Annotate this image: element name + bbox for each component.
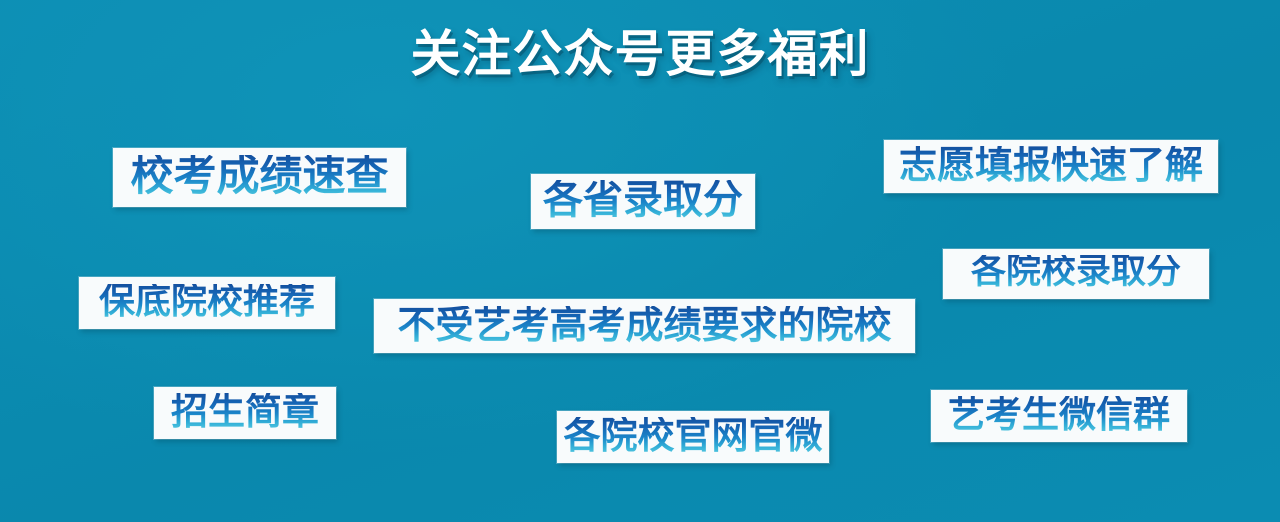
label-chip-text: 各院校官网官微 — [564, 417, 823, 454]
label-chip-geyuanxiao-luqufen[interactable]: 各院校录取分 — [943, 249, 1209, 299]
label-chip-text: 各省录取分 — [543, 180, 743, 220]
label-chip-text: 保底院校推荐 — [99, 284, 315, 320]
label-chip-text: 招生简章 — [171, 393, 319, 430]
promo-poster: 关注公众号更多福利 校考成绩速查 各省录取分 志愿填报快速了解 各院校录取分 保… — [0, 0, 1280, 522]
label-chip-bushou-yikao-yaoqiu[interactable]: 不受艺考高考成绩要求的院校 — [374, 299, 915, 353]
label-chip-zhiyuan-tianbao[interactable]: 志愿填报快速了解 — [884, 140, 1218, 193]
label-chip-text: 志愿填报快速了解 — [899, 146, 1203, 184]
label-chip-zhaosheng-jianzhang[interactable]: 招生简章 — [154, 387, 336, 439]
label-chip-text: 校考成绩速查 — [131, 155, 389, 198]
label-chip-text: 各院校录取分 — [971, 255, 1181, 290]
label-chip-yikaosheng-weixinqun[interactable]: 艺考生微信群 — [931, 390, 1187, 442]
label-chip-xiaokao-chengji-suzha[interactable]: 校考成绩速查 — [113, 148, 406, 207]
label-chip-baodi-yuanxiao-tuijian[interactable]: 保底院校推荐 — [79, 277, 335, 329]
label-chip-text: 不受艺考高考成绩要求的院校 — [397, 306, 891, 344]
label-chip-gesheng-luqufen[interactable]: 各省录取分 — [531, 174, 755, 229]
label-chip-text: 艺考生微信群 — [948, 396, 1170, 433]
page-title: 关注公众号更多福利 — [0, 26, 1280, 83]
label-chip-guanwang-guanwei[interactable]: 各院校官网官微 — [557, 411, 829, 463]
